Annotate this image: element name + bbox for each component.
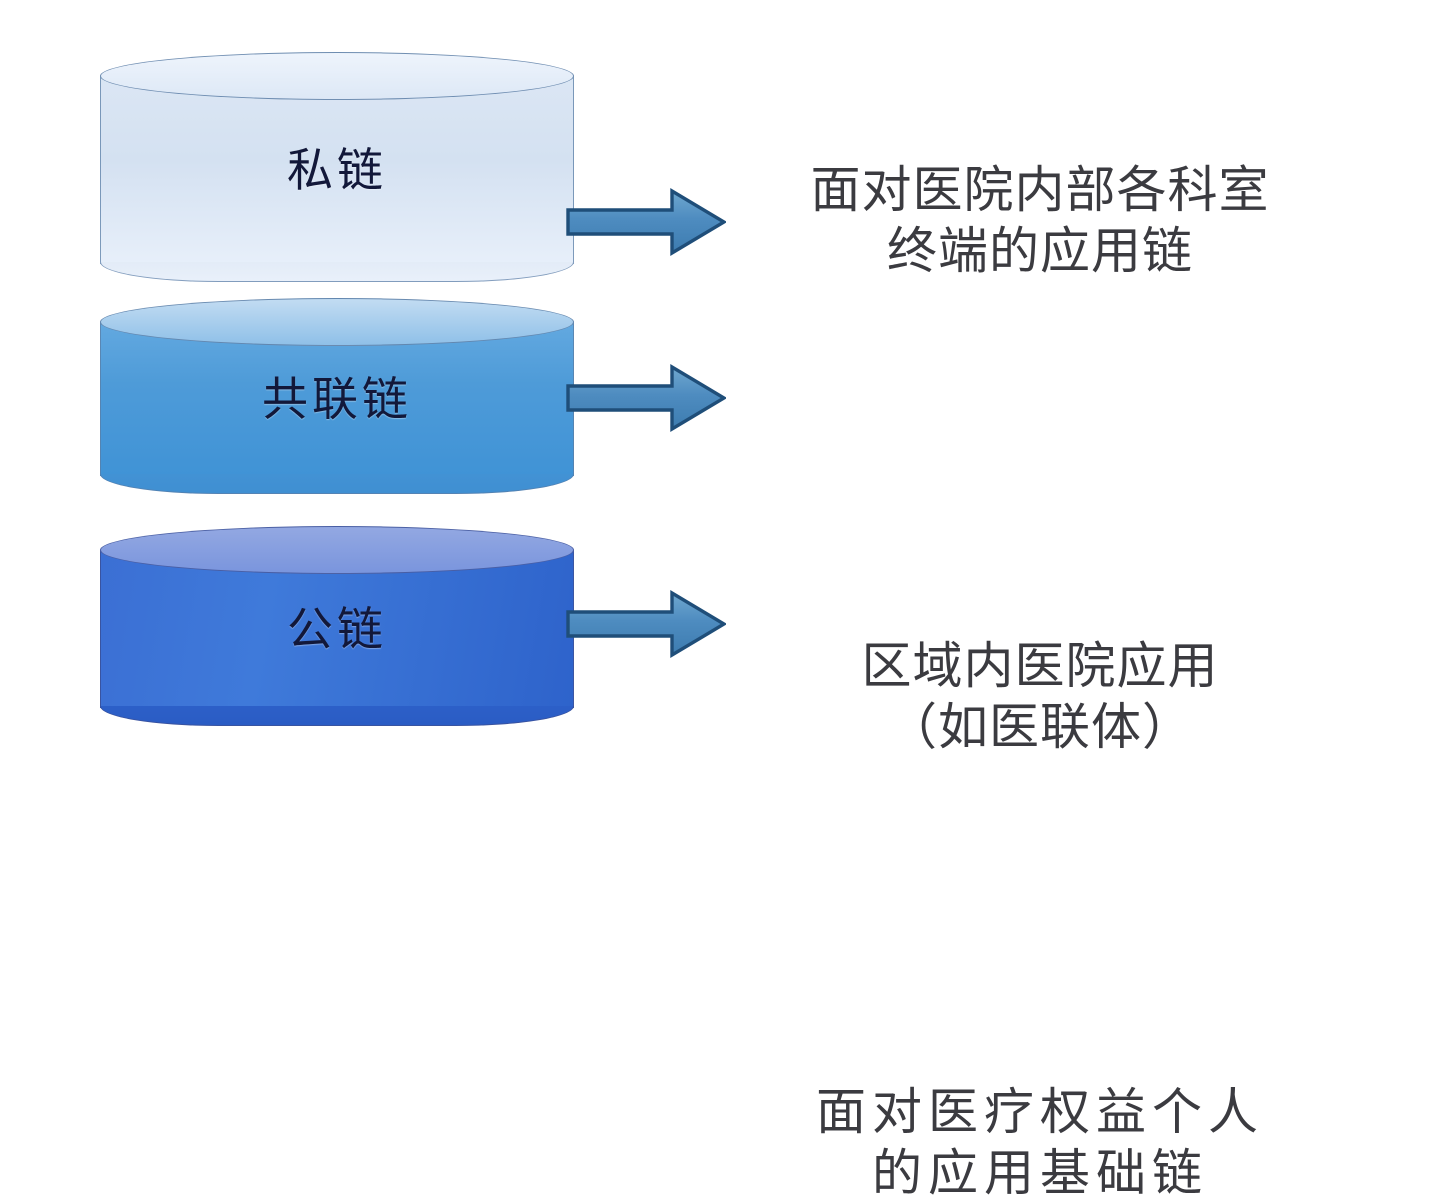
description-line: 面对医院内部各科室	[760, 160, 1320, 221]
cylinder-consortium-chain[interactable]: 共联链	[100, 298, 574, 494]
blockchain-layers-diagram: 私链 面对医院内部各科室 终端的应用链	[0, 0, 1447, 763]
cylinder-private-chain[interactable]: 私链	[100, 52, 574, 282]
cylinder-public-chain[interactable]: 公链	[100, 526, 574, 726]
right-block-arrow-icon	[568, 593, 724, 655]
description-line: 面对医疗权益个人	[760, 1082, 1320, 1143]
arrow-consortium-chain	[566, 362, 726, 434]
description-line: 终端的应用链	[760, 221, 1320, 282]
cylinder-label-consortium-chain: 共联链	[100, 298, 574, 494]
layer-row-consortium-chain: 共联链 区域内医院应用 （如医联体）	[0, 298, 1447, 494]
description-line: 的应用基础链	[760, 1143, 1320, 1204]
cylinder-label-private-chain: 私链	[100, 52, 574, 282]
layer-row-public-chain: 公链 面对医疗权益个人 的应用基础链	[0, 526, 1447, 726]
arrow-private-chain	[566, 186, 726, 258]
description-private-chain: 面对医院内部各科室 终端的应用链	[760, 160, 1320, 282]
description-public-chain: 面对医疗权益个人 的应用基础链	[760, 1082, 1320, 1204]
layer-row-private-chain: 私链 面对医院内部各科室 终端的应用链	[0, 52, 1447, 282]
right-block-arrow-icon	[568, 191, 724, 253]
cylinder-label-public-chain: 公链	[100, 526, 574, 726]
right-block-arrow-icon	[568, 367, 724, 429]
arrow-public-chain	[566, 588, 726, 660]
